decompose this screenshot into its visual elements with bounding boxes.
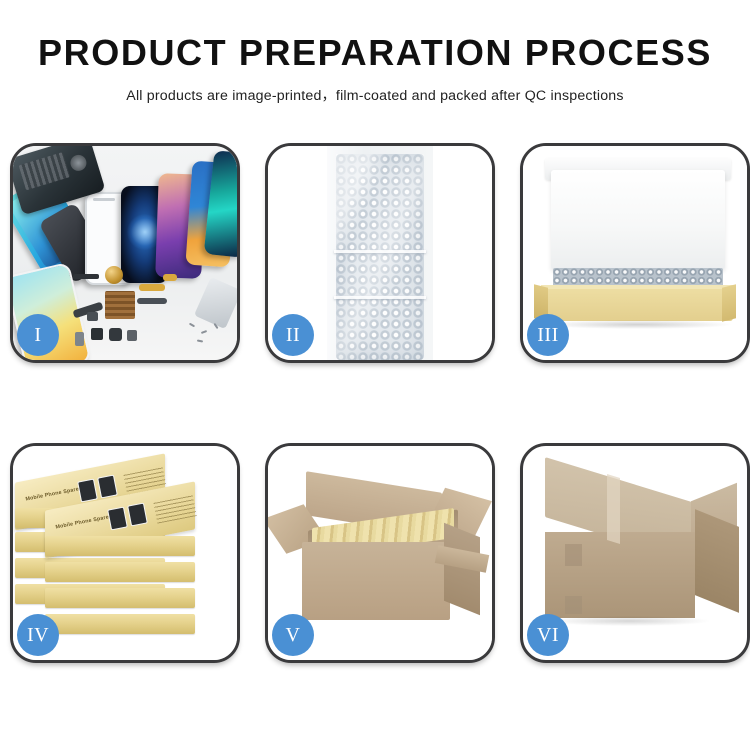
page-header: PRODUCT PREPARATION PROCESS All products… bbox=[0, 0, 750, 105]
box-front-panel bbox=[541, 289, 733, 321]
tape-tab-upper bbox=[565, 544, 582, 566]
step-numeral: IV bbox=[27, 624, 49, 647]
vibration-motor-icon bbox=[105, 266, 123, 284]
step-badge-6: VI bbox=[527, 614, 569, 656]
step-panel-5: V bbox=[265, 443, 495, 663]
step-badge-4: IV bbox=[17, 614, 59, 656]
step-numeral: I bbox=[34, 324, 41, 347]
earpiece-speaker-icon bbox=[73, 274, 99, 279]
flex-cable-2-icon bbox=[139, 284, 165, 291]
wrap-seam-1 bbox=[334, 250, 426, 253]
retail-box-front-5 bbox=[45, 614, 195, 634]
step-panel-1: I bbox=[10, 143, 240, 363]
retail-box-front-3 bbox=[45, 562, 195, 582]
retail-box-front-2 bbox=[45, 536, 195, 556]
carton-shadow bbox=[549, 616, 709, 626]
connector-grid-icon bbox=[105, 291, 135, 319]
step-panel-2: II bbox=[265, 143, 495, 363]
step-numeral: V bbox=[286, 624, 301, 647]
page-subtitle: All products are image-printed，film-coat… bbox=[0, 85, 750, 105]
foam-sheet-icon bbox=[551, 170, 725, 270]
small-part-1-icon bbox=[75, 332, 84, 346]
step-panel-4: Mobile Phone Spare Parts Mobile Phone Sp… bbox=[10, 443, 240, 663]
bubble-wrap-icon bbox=[336, 154, 424, 360]
small-part-5-icon bbox=[87, 312, 98, 321]
step-badge-1: I bbox=[17, 314, 59, 356]
screws-icon bbox=[189, 322, 225, 346]
step-badge-5: V bbox=[272, 614, 314, 656]
step-panel-3: III bbox=[520, 143, 750, 363]
step-badge-3: III bbox=[527, 314, 569, 356]
step-panel-6: VI bbox=[520, 443, 750, 663]
tape-tab-lower bbox=[565, 596, 582, 614]
box-shadow bbox=[545, 320, 731, 329]
step-numeral: II bbox=[286, 324, 300, 347]
sealed-carton-side bbox=[695, 509, 739, 613]
small-part-3-icon bbox=[109, 328, 122, 341]
box-flap-right bbox=[722, 284, 736, 321]
step-numeral: III bbox=[537, 324, 558, 347]
step-badge-2: II bbox=[272, 314, 314, 356]
flex-cable-3-icon bbox=[137, 298, 167, 304]
small-part-6-icon bbox=[163, 274, 177, 281]
wrap-seam-2 bbox=[334, 296, 426, 299]
process-steps-grid: I II III bbox=[10, 143, 740, 663]
step-numeral: VI bbox=[537, 624, 559, 647]
page-title: PRODUCT PREPARATION PROCESS bbox=[0, 34, 750, 72]
packing-tape-icon bbox=[607, 474, 620, 544]
small-part-2-icon bbox=[91, 328, 103, 340]
carton-front-panel bbox=[302, 542, 450, 620]
retail-box-front-4 bbox=[45, 588, 195, 608]
small-part-4-icon bbox=[127, 330, 137, 341]
